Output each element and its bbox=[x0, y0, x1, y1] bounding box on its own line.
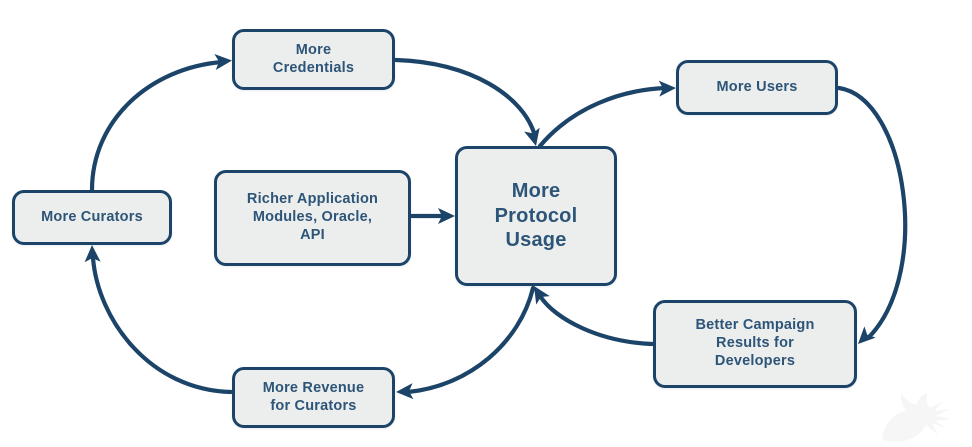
edge-campaign-results-to-protocol-usage bbox=[527, 282, 652, 344]
edge-protocol-usage-to-users bbox=[540, 80, 676, 146]
node-label: More Protocol Usage bbox=[489, 179, 584, 252]
node-label: Better Campaign Results for Developers bbox=[689, 317, 820, 370]
node-better-campaign-results[interactable]: Better Campaign Results for Developers bbox=[653, 300, 857, 388]
edge-revenue-to-curators bbox=[84, 245, 231, 392]
node-label: More Curators bbox=[35, 209, 149, 227]
node-more-curators[interactable]: More Curators bbox=[12, 190, 172, 245]
node-richer-application-modules[interactable]: Richer Application Modules, Oracle, API bbox=[214, 170, 411, 266]
node-label: More Credentials bbox=[267, 42, 360, 77]
diagram-canvas: More Curators More Credentials Richer Ap… bbox=[0, 0, 972, 447]
edge-curators-to-credentials bbox=[92, 53, 233, 190]
node-label: Richer Application Modules, Oracle, API bbox=[241, 191, 384, 244]
edge-modules-to-protocol-usage bbox=[412, 208, 455, 224]
node-more-protocol-usage[interactable]: More Protocol Usage bbox=[455, 146, 617, 286]
node-label: More Revenue for Curators bbox=[257, 380, 371, 415]
node-more-users[interactable]: More Users bbox=[676, 60, 838, 115]
node-label: More Users bbox=[711, 79, 804, 97]
edge-credentials-to-protocol-usage bbox=[396, 60, 544, 148]
edge-protocol-usage-to-revenue bbox=[396, 288, 533, 400]
node-more-revenue-for-curators[interactable]: More Revenue for Curators bbox=[232, 367, 395, 428]
node-more-credentials[interactable]: More Credentials bbox=[232, 29, 395, 90]
